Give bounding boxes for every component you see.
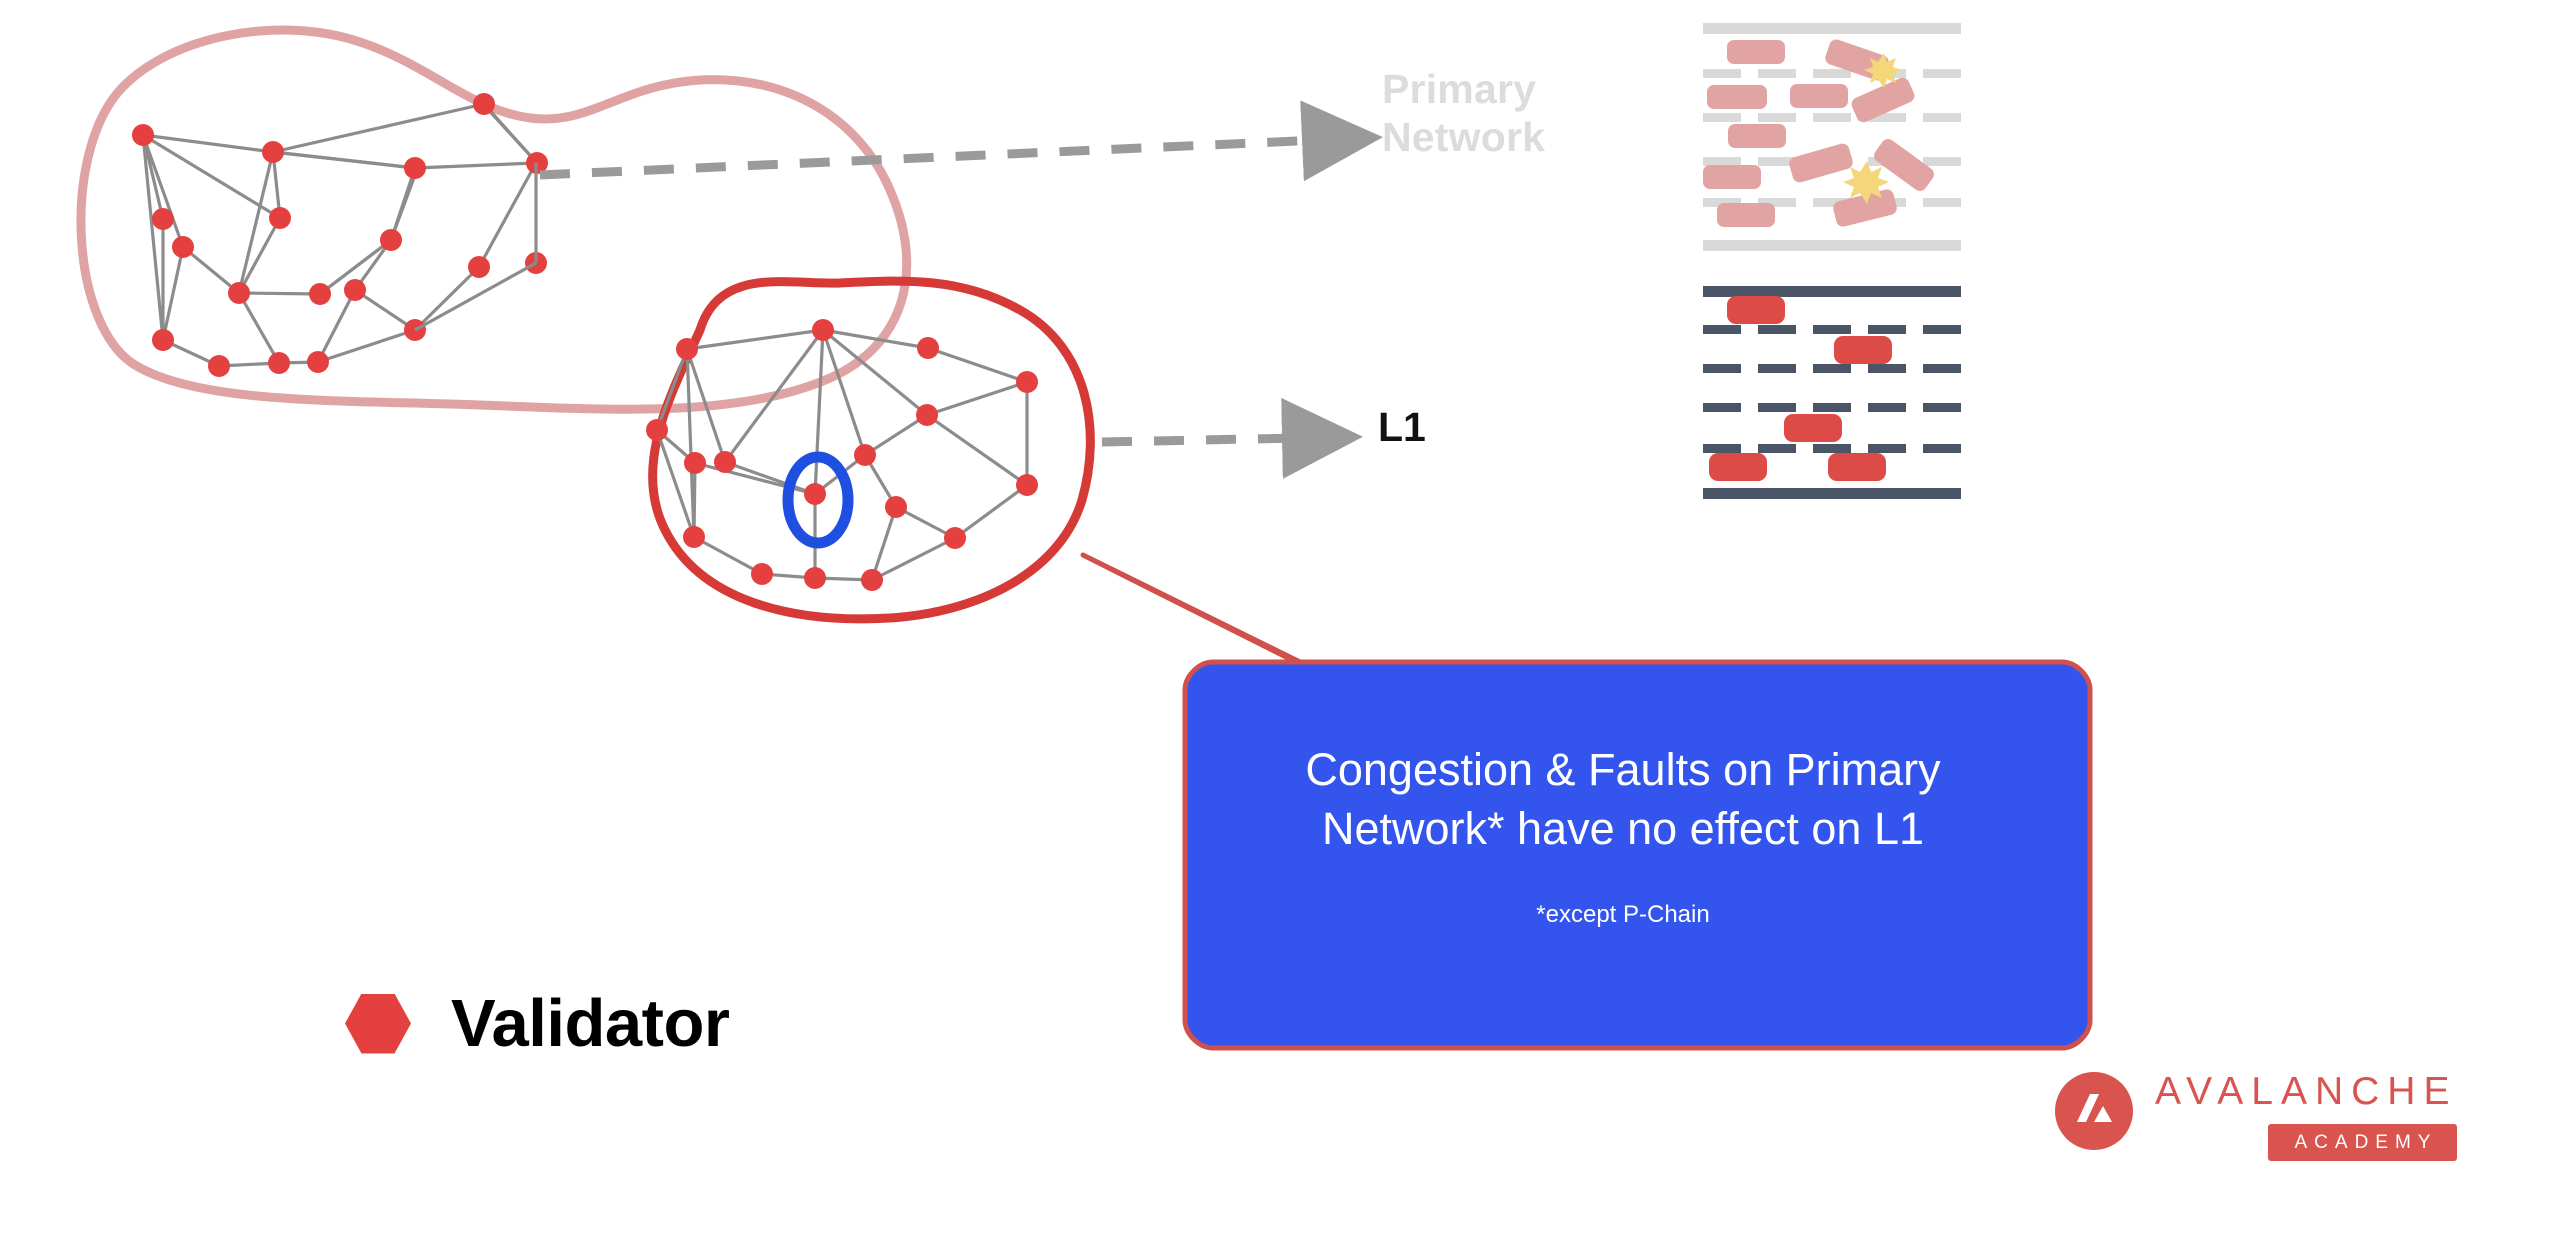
collision-spark-icon: [1843, 53, 1902, 204]
primary-network-block-diagram: [1703, 23, 1961, 251]
arrow-l1: [1102, 438, 1300, 442]
logo-academy-badge: ACADEMY: [2268, 1124, 2458, 1161]
validator-hexagon-icon: [345, 994, 411, 1054]
l1-nodes: [646, 319, 1038, 591]
l1-block-diagram: [1703, 286, 1961, 499]
callout-bubble: [1083, 555, 2090, 1048]
l1-cluster: [646, 281, 1090, 619]
primary-network-cluster: [81, 30, 907, 409]
l1-blocks: [1709, 296, 1892, 481]
arrow-primary-network: [540, 140, 1320, 175]
primary-network-label: Primary Network: [1382, 65, 1545, 162]
logo-wordmark: AVALANCHE: [2155, 1072, 2457, 1111]
legend: Validator: [345, 985, 729, 1062]
avalanche-logo-mark-icon: [2055, 1072, 2133, 1150]
primary-network-blob-outline: [81, 30, 907, 409]
slide-canvas: Primary Network L1 Congestion & Faults o…: [0, 0, 2558, 1258]
avalanche-academy-logo: AVALANCHE ACADEMY: [2055, 1072, 2457, 1161]
avalanche-triangle-icon: [2070, 1091, 2118, 1131]
legend-label: Validator: [451, 985, 729, 1062]
l1-label: L1: [1378, 404, 1426, 451]
primary-network-edges: [143, 104, 537, 366]
logo-text-group: AVALANCHE ACADEMY: [2155, 1072, 2457, 1161]
